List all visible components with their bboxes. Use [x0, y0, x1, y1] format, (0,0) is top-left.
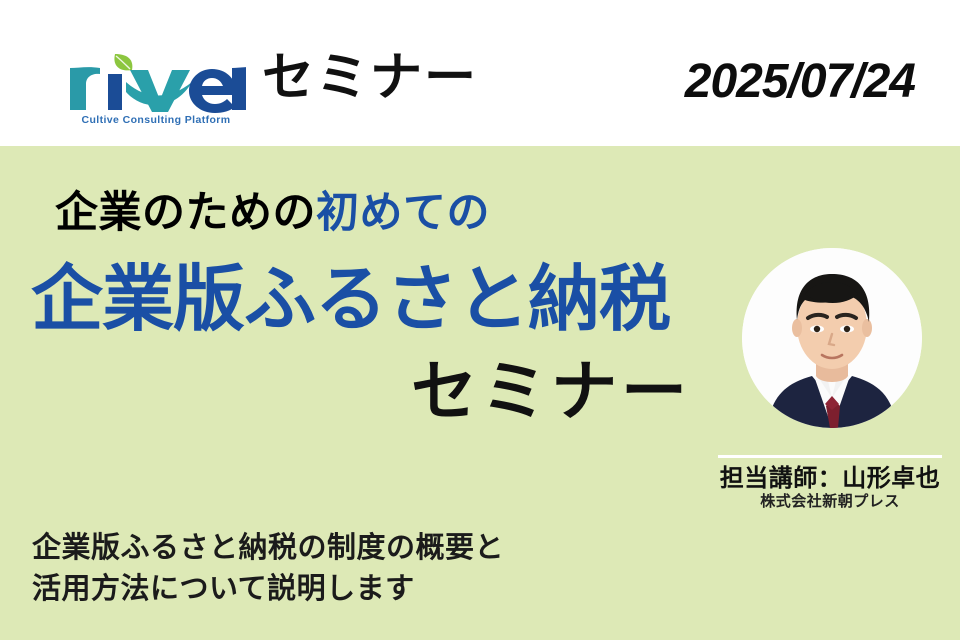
portrait-photo-icon: [742, 248, 922, 428]
header-band: Cultive Consulting Platform セミナー 2025/07…: [0, 0, 960, 146]
seminar-flyer-slide: Cultive Consulting Platform セミナー 2025/07…: [0, 0, 960, 640]
headline-kicker: 企業のための初めての: [55, 192, 490, 235]
speaker-name: 担当講師：山形卓也: [712, 458, 948, 493]
event-date: 2025/07/24: [685, 58, 915, 106]
logo-tagline: Cultive Consulting Platform: [66, 114, 246, 126]
instructor-portrait: [742, 248, 922, 428]
river-wordmark-icon: [66, 48, 246, 114]
header-seminar-label: セミナー: [262, 52, 478, 104]
kicker-plain-text: 企業のための: [55, 189, 316, 237]
description-block: 企業版ふるさと納税の制度の概要と 活用方法について説明します: [32, 528, 504, 610]
kicker-accent-text: 初めての: [316, 189, 490, 237]
headline-sub: セミナー: [31, 358, 691, 427]
river-logo: Cultive Consulting Platform: [66, 48, 246, 136]
description-line-1: 企業版ふるさと納税の制度の概要と: [32, 528, 504, 569]
speaker-company: 株式会社新朝プレス: [712, 490, 948, 511]
headline-main: 企業版ふるさと納税: [31, 264, 670, 336]
description-line-2: 活用方法について説明します: [32, 569, 504, 610]
